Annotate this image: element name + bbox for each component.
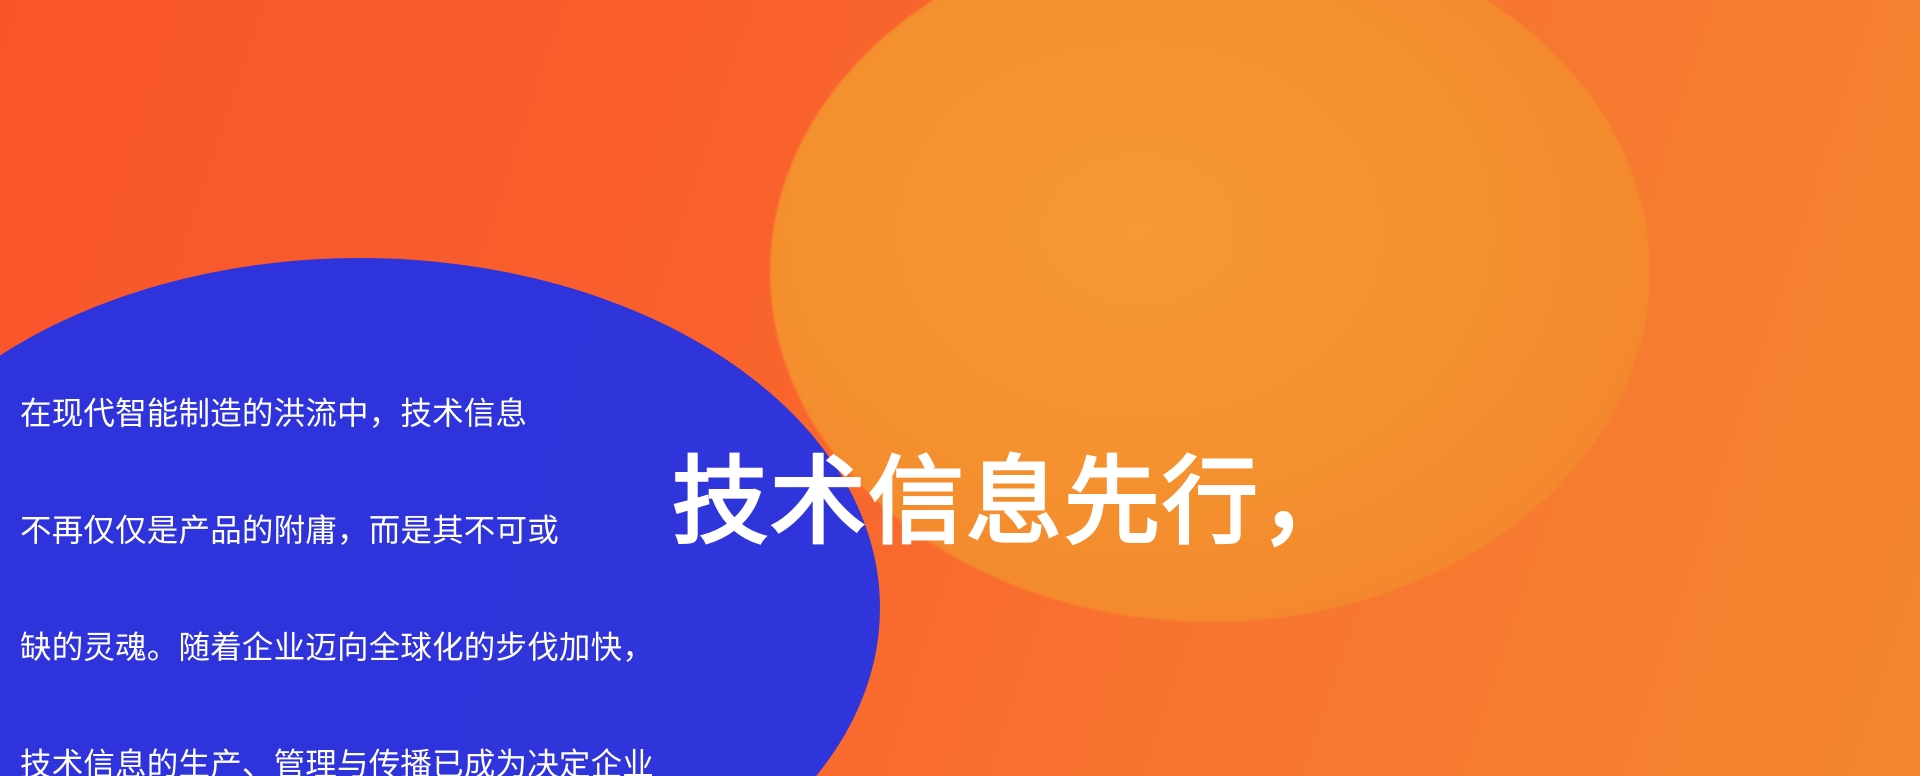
promo-banner: 技术信息先行， 智能智造未来！ 在现代智能制造的洪流中，技术信息 不再仅仅是产品… [0,0,1920,776]
body-line-4: 技术信息的生产、管理与传播已成为决定企业 [20,745,720,776]
body-line-3: 缺的灵魂。随着企业迈向全球化的步伐加快， [20,628,720,667]
headline-line-1: 技术信息先行， [672,442,1852,565]
body-line-1: 在现代智能制造的洪流中，技术信息 [20,394,720,433]
body-paragraph: 在现代智能制造的洪流中，技术信息 不再仅仅是产品的附庸，而是其不可或 缺的灵魂。… [20,316,720,776]
headline: 技术信息先行， 智能智造未来！ [672,196,1852,776]
body-line-2: 不再仅仅是产品的附庸，而是其不可或 [20,511,720,550]
